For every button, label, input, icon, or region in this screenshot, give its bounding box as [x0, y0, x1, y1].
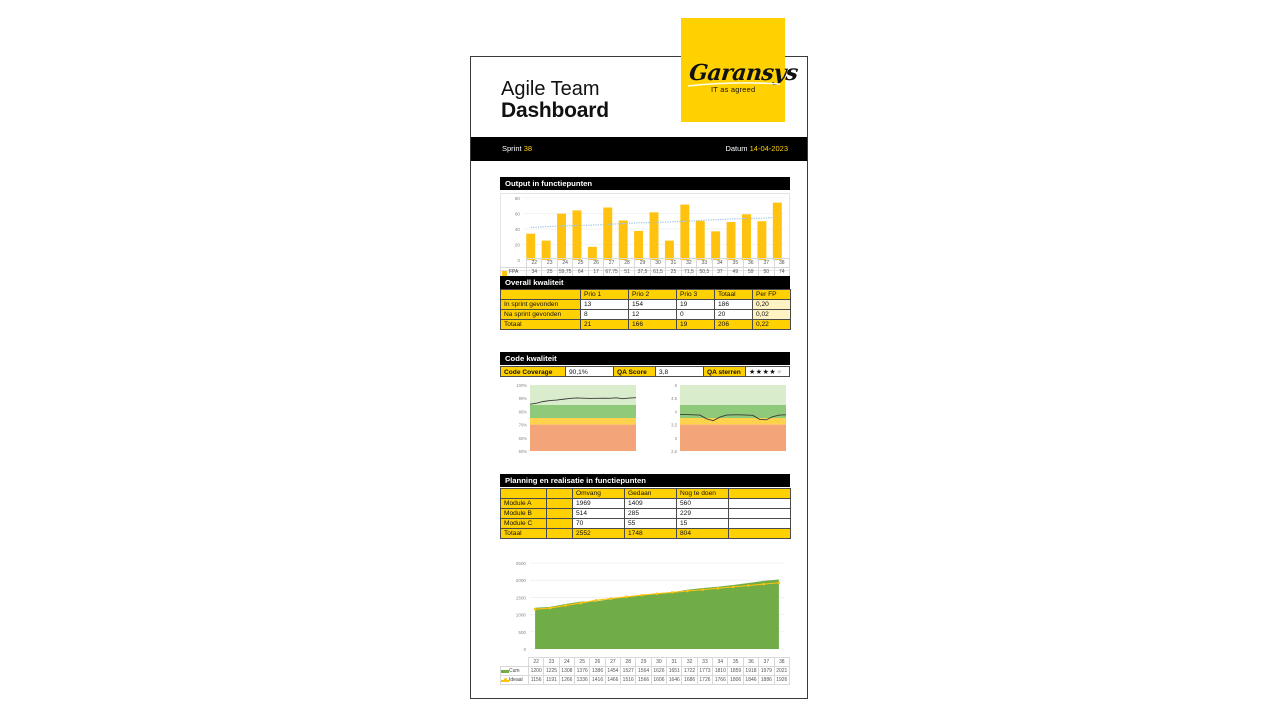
- table-row: Module A19691409560: [501, 499, 791, 509]
- qa-stars-value: ★★★★★: [746, 366, 790, 377]
- bar: [603, 207, 612, 260]
- value-cell: 1516: [621, 676, 636, 685]
- value-cell: 1926: [774, 676, 790, 685]
- table-row: In sprint gevonden13154191860,20: [501, 300, 791, 310]
- legend-swatch-icon: [502, 271, 507, 276]
- ideal-marker: [564, 604, 567, 607]
- column-header: Per FP: [753, 290, 791, 300]
- value-cell: 1606: [651, 676, 666, 685]
- burnup-y-axis: 05001000150020002500: [516, 561, 527, 652]
- value-cell: 1646: [667, 676, 682, 685]
- legend-label: Cum: [501, 667, 529, 676]
- category-label: 33: [697, 259, 712, 268]
- cell: 0,02: [753, 310, 791, 320]
- section-header-code: Code kwaliteit: [500, 352, 790, 365]
- code-coverage-label: Code Coverage: [500, 366, 566, 377]
- value-cell: 1766: [713, 676, 728, 685]
- value-cell: 1266: [559, 676, 574, 685]
- category-label: 38: [774, 658, 790, 667]
- value-cell: 1686: [682, 676, 697, 685]
- value-cell: 1566: [636, 676, 651, 685]
- qa-score-label: QA Score: [614, 366, 656, 377]
- bar: [727, 222, 736, 260]
- page-title: Agile Team Dashboard: [501, 79, 609, 122]
- bar: [680, 205, 689, 260]
- category-label: 29: [636, 658, 651, 667]
- value-cell: 1454: [605, 667, 620, 676]
- date-info: Datum 14-04-2023: [725, 144, 788, 153]
- grid-corner: [501, 259, 527, 268]
- ideal-marker: [762, 583, 765, 586]
- cell: 20: [715, 310, 753, 320]
- category-label: 25: [575, 658, 590, 667]
- dashboard-page: Agile Team Dashboard Sprint 38 Datum 14-…: [470, 56, 808, 699]
- value-cell: 1308: [559, 667, 574, 676]
- overall-quality-table: Prio 1Prio 2Prio 3TotaalPer FPIn sprint …: [500, 289, 791, 330]
- sprint-info: Sprint 38: [502, 144, 532, 153]
- y-tick-label: 3,5: [671, 423, 677, 428]
- table-row: Na sprint gevonden8120200,02: [501, 310, 791, 320]
- category-label: 34: [713, 658, 728, 667]
- value-cell: 1200: [529, 667, 544, 676]
- ideal-marker: [656, 592, 659, 595]
- y-tick-label: 4,5: [671, 396, 677, 401]
- bar: [634, 231, 643, 260]
- value-cell: 1386: [590, 667, 605, 676]
- value-cell: 1527: [621, 667, 636, 676]
- category-label: 32: [681, 259, 696, 268]
- band: [530, 425, 636, 451]
- y-tick-label: 5: [675, 383, 678, 388]
- row-label: Module C: [501, 519, 547, 529]
- y-tick-label: 4: [675, 409, 678, 414]
- category-label: 35: [728, 658, 743, 667]
- burnup-chart-panel: 05001000150020002500: [500, 557, 790, 661]
- burnup-chart: 05001000150020002500: [500, 557, 790, 661]
- cell: [729, 519, 791, 529]
- band: [530, 418, 636, 425]
- cell: 206: [715, 320, 753, 330]
- output-y-axis: 020406080: [515, 196, 521, 263]
- value-cell: 1376: [575, 667, 590, 676]
- band: [680, 418, 786, 425]
- y-tick-label: 1500: [516, 595, 527, 600]
- output-bars: [526, 203, 782, 260]
- date-label: Datum: [725, 144, 747, 153]
- ideal-marker: [549, 607, 552, 610]
- bar: [526, 234, 535, 260]
- cell: 19: [677, 300, 715, 310]
- cell: [729, 529, 791, 539]
- table-row: Module B514285229: [501, 509, 791, 519]
- bar: [711, 231, 720, 260]
- cell: 166: [629, 320, 677, 330]
- row-label: Totaal: [501, 529, 547, 539]
- y-tick-label: 2500: [516, 561, 527, 566]
- date-value: 14-04-2023: [750, 144, 788, 153]
- ideal-marker: [717, 587, 720, 590]
- column-header: Totaal: [715, 290, 753, 300]
- cell: 804: [677, 529, 729, 539]
- ideal-marker: [534, 608, 537, 611]
- output-category-row: 2223242526272829303132333435363738: [501, 259, 790, 268]
- cell: 154: [629, 300, 677, 310]
- ideal-marker: [732, 586, 735, 589]
- band: [530, 405, 636, 418]
- row-label: Module B: [501, 509, 547, 519]
- screenshot-root: Agile Team Dashboard Sprint 38 Datum 14-…: [0, 0, 1280, 720]
- band: [680, 385, 786, 405]
- y-tick-label: 2,5: [671, 449, 677, 454]
- value-cell: 1336: [575, 676, 590, 685]
- category-label: 31: [667, 658, 682, 667]
- value-cell: 1806: [728, 676, 743, 685]
- category-label: 25: [573, 259, 588, 268]
- bar: [619, 220, 628, 260]
- section-header-planning: Planning en realisatie in functiepunten: [500, 474, 790, 487]
- cell: 15: [677, 519, 729, 529]
- row-label: Module A: [501, 499, 547, 509]
- value-cell: 1651: [667, 667, 682, 676]
- column-header: Omvang: [573, 489, 625, 499]
- column-header: Prio 2: [629, 290, 677, 300]
- y-tick-label: 80%: [519, 409, 528, 414]
- garansys-logo: Garansys IT as agreed: [681, 18, 785, 122]
- category-label: 32: [682, 658, 697, 667]
- cell: 1409: [625, 499, 677, 509]
- table-total-row: Totaal25521748804: [501, 529, 791, 539]
- y-tick-label: 2000: [516, 578, 527, 583]
- category-label: 26: [590, 658, 605, 667]
- value-cell: 1564: [636, 667, 651, 676]
- value-cell: 1156: [529, 676, 544, 685]
- column-header: [547, 489, 573, 499]
- category-label: 24: [557, 259, 572, 268]
- category-label: 22: [527, 259, 542, 268]
- band: [680, 405, 786, 418]
- cell: 70: [573, 519, 625, 529]
- ideal-marker: [580, 602, 583, 605]
- y-tick-label: 1000: [516, 613, 527, 618]
- cell: 186: [715, 300, 753, 310]
- cell: 13: [581, 300, 629, 310]
- category-label: 27: [604, 259, 619, 268]
- column-header: Gedaan: [625, 489, 677, 499]
- band-charts-svg: 50%60%70%80%90%100% 2,533,544,55: [500, 381, 790, 463]
- bar: [572, 210, 581, 260]
- value-cell: 1886: [759, 676, 774, 685]
- cell: 0,22: [753, 320, 791, 330]
- y-tick-label: 90%: [519, 396, 528, 401]
- table-total-row: Totaal21166192060,22: [501, 320, 791, 330]
- ideal-marker: [701, 588, 704, 591]
- category-label: 22: [529, 658, 544, 667]
- burnup-category-row: 2223242526272829303132333435363738: [501, 658, 790, 667]
- ideal-marker: [778, 581, 781, 584]
- value-cell: 1979: [759, 667, 774, 676]
- y-tick-label: 60: [515, 212, 521, 217]
- value-cell: 2021: [774, 667, 790, 676]
- cell: 55: [625, 519, 677, 529]
- spacer-cell: [547, 519, 573, 529]
- y-tick-label: 40: [515, 227, 521, 232]
- category-label: 31: [666, 259, 681, 268]
- cell: 21: [581, 320, 629, 330]
- category-label: 29: [635, 259, 650, 268]
- value-cell: 1846: [743, 676, 758, 685]
- qa-score-band-chart: 2,533,544,55: [671, 383, 786, 454]
- band: [530, 385, 636, 405]
- qa-stars-label: QA sterren: [704, 366, 746, 377]
- y-tick-label: 60%: [519, 436, 528, 441]
- table-header-row: Prio 1Prio 2Prio 3TotaalPer FP: [501, 290, 791, 300]
- category-label: 27: [605, 658, 620, 667]
- cell: 19: [677, 320, 715, 330]
- category-label: 35: [728, 259, 743, 268]
- spacer-cell: [547, 499, 573, 509]
- table-header-row: OmvangGedaanNog te doen: [501, 489, 791, 499]
- cell: [729, 499, 791, 509]
- row-label: In sprint gevonden: [501, 300, 581, 310]
- cell: 1969: [573, 499, 625, 509]
- ideal-marker: [640, 594, 643, 597]
- ideal-marker: [747, 584, 750, 587]
- y-tick-label: 500: [518, 630, 526, 635]
- band: [680, 425, 786, 451]
- row-label: Na sprint gevonden: [501, 310, 581, 320]
- cell: 0: [677, 310, 715, 320]
- category-label: 24: [559, 658, 574, 667]
- title-line-1: Agile Team: [501, 79, 609, 100]
- y-tick-label: 20: [515, 243, 521, 248]
- sprint-value: 38: [524, 144, 532, 153]
- value-cell: 1918: [743, 667, 758, 676]
- legend-label: Ideaal: [501, 676, 529, 685]
- y-tick-label: 70%: [519, 423, 528, 428]
- sprint-bar: Sprint 38 Datum 14-04-2023: [471, 137, 807, 161]
- category-label: 28: [619, 259, 634, 268]
- category-label: 30: [650, 259, 665, 268]
- cell: 1748: [625, 529, 677, 539]
- bar: [757, 221, 766, 260]
- code-coverage-value: 90,1%: [566, 366, 614, 377]
- column-header: [501, 290, 581, 300]
- bar: [773, 203, 782, 260]
- column-header: Prio 1: [581, 290, 629, 300]
- cell: 2552: [573, 529, 625, 539]
- sprint-label: Sprint: [502, 144, 522, 153]
- spacer-cell: [547, 509, 573, 519]
- y-tick-label: 80: [515, 196, 521, 201]
- legend-line-icon: [501, 670, 509, 673]
- cell: 229: [677, 509, 729, 519]
- value-cell: 1859: [728, 667, 743, 676]
- category-label: 37: [759, 259, 774, 268]
- ideal-marker: [686, 590, 689, 593]
- logo-inner: Garansys IT as agreed: [681, 58, 785, 103]
- column-header: Nog te doen: [677, 489, 729, 499]
- cell: 560: [677, 499, 729, 509]
- bar: [696, 221, 705, 260]
- value-cell: 1726: [697, 676, 712, 685]
- value-cell: 1225: [544, 667, 559, 676]
- cell: [729, 509, 791, 519]
- category-label: 36: [743, 658, 758, 667]
- category-label: 36: [743, 259, 758, 268]
- output-data-grid: 2223242526272829303132333435363738 FPA34…: [500, 258, 790, 277]
- burnup-cum-area: [535, 579, 779, 649]
- category-label: 37: [759, 658, 774, 667]
- category-label: 33: [697, 658, 712, 667]
- code-coverage-band-chart: 50%60%70%80%90%100%: [516, 383, 636, 454]
- code-quality-strip: Code Coverage 90,1% QA Score 3,8 QA ster…: [500, 366, 790, 377]
- section-header-overall: Overall kwaliteit: [500, 276, 790, 289]
- grid-corner: [501, 658, 529, 667]
- row-label: Totaal: [501, 320, 581, 330]
- category-label: 28: [621, 658, 636, 667]
- category-label: 34: [712, 259, 727, 268]
- qa-score-value: 3,8: [656, 366, 704, 377]
- star-icon: ★: [776, 369, 783, 376]
- cell: 8: [581, 310, 629, 320]
- category-label: 38: [774, 259, 790, 268]
- burnup-cum-row: Cum1200122513081376138614541527156416261…: [501, 667, 790, 676]
- column-header: [729, 489, 791, 499]
- cell: 12: [629, 310, 677, 320]
- section-header-output: Output in functiepunten: [500, 177, 790, 190]
- bar: [742, 214, 751, 260]
- code-quality-charts: 50%60%70%80%90%100% 2,533,544,55: [500, 381, 790, 463]
- value-cell: 1626: [651, 667, 666, 676]
- logo-tagline: IT as agreed: [711, 85, 755, 94]
- cell: 285: [625, 509, 677, 519]
- title-line-2: Dashboard: [501, 100, 609, 122]
- category-label: 23: [542, 259, 557, 268]
- category-label: 26: [588, 259, 603, 268]
- value-cell: 1191: [544, 676, 559, 685]
- bar: [650, 212, 659, 260]
- spacer-cell: [547, 529, 573, 539]
- column-header: Prio 3: [677, 290, 715, 300]
- planning-table: OmvangGedaanNog te doenModule A196914095…: [500, 488, 791, 539]
- value-cell: 1722: [682, 667, 697, 676]
- category-label: 30: [651, 658, 666, 667]
- y-tick-label: 100%: [516, 383, 527, 388]
- y-tick-label: 3: [675, 436, 678, 441]
- value-cell: 1773: [697, 667, 712, 676]
- y-tick-label: 0: [523, 647, 526, 652]
- ideal-marker: [671, 591, 674, 594]
- bar: [557, 214, 566, 260]
- burnup-ideal-row: Ideaal1156119112661336141614661516156616…: [501, 676, 790, 685]
- ideal-marker: [625, 596, 628, 599]
- value-cell: 1466: [605, 676, 620, 685]
- ideal-marker: [610, 597, 613, 600]
- star-icon: ★: [749, 369, 756, 376]
- star-icon: ★: [756, 369, 763, 376]
- cell: 514: [573, 509, 625, 519]
- burnup-data-grid: 2223242526272829303132333435363738 Cum12…: [500, 657, 790, 685]
- value-cell: 1416: [590, 676, 605, 685]
- category-label: 23: [544, 658, 559, 667]
- cum-area: [535, 579, 779, 649]
- ideal-marker: [595, 599, 598, 602]
- table-row: Module C705515: [501, 519, 791, 529]
- cell: 0,20: [753, 300, 791, 310]
- value-cell: 1810: [713, 667, 728, 676]
- y-tick-label: 50%: [519, 449, 528, 454]
- column-header: [501, 489, 547, 499]
